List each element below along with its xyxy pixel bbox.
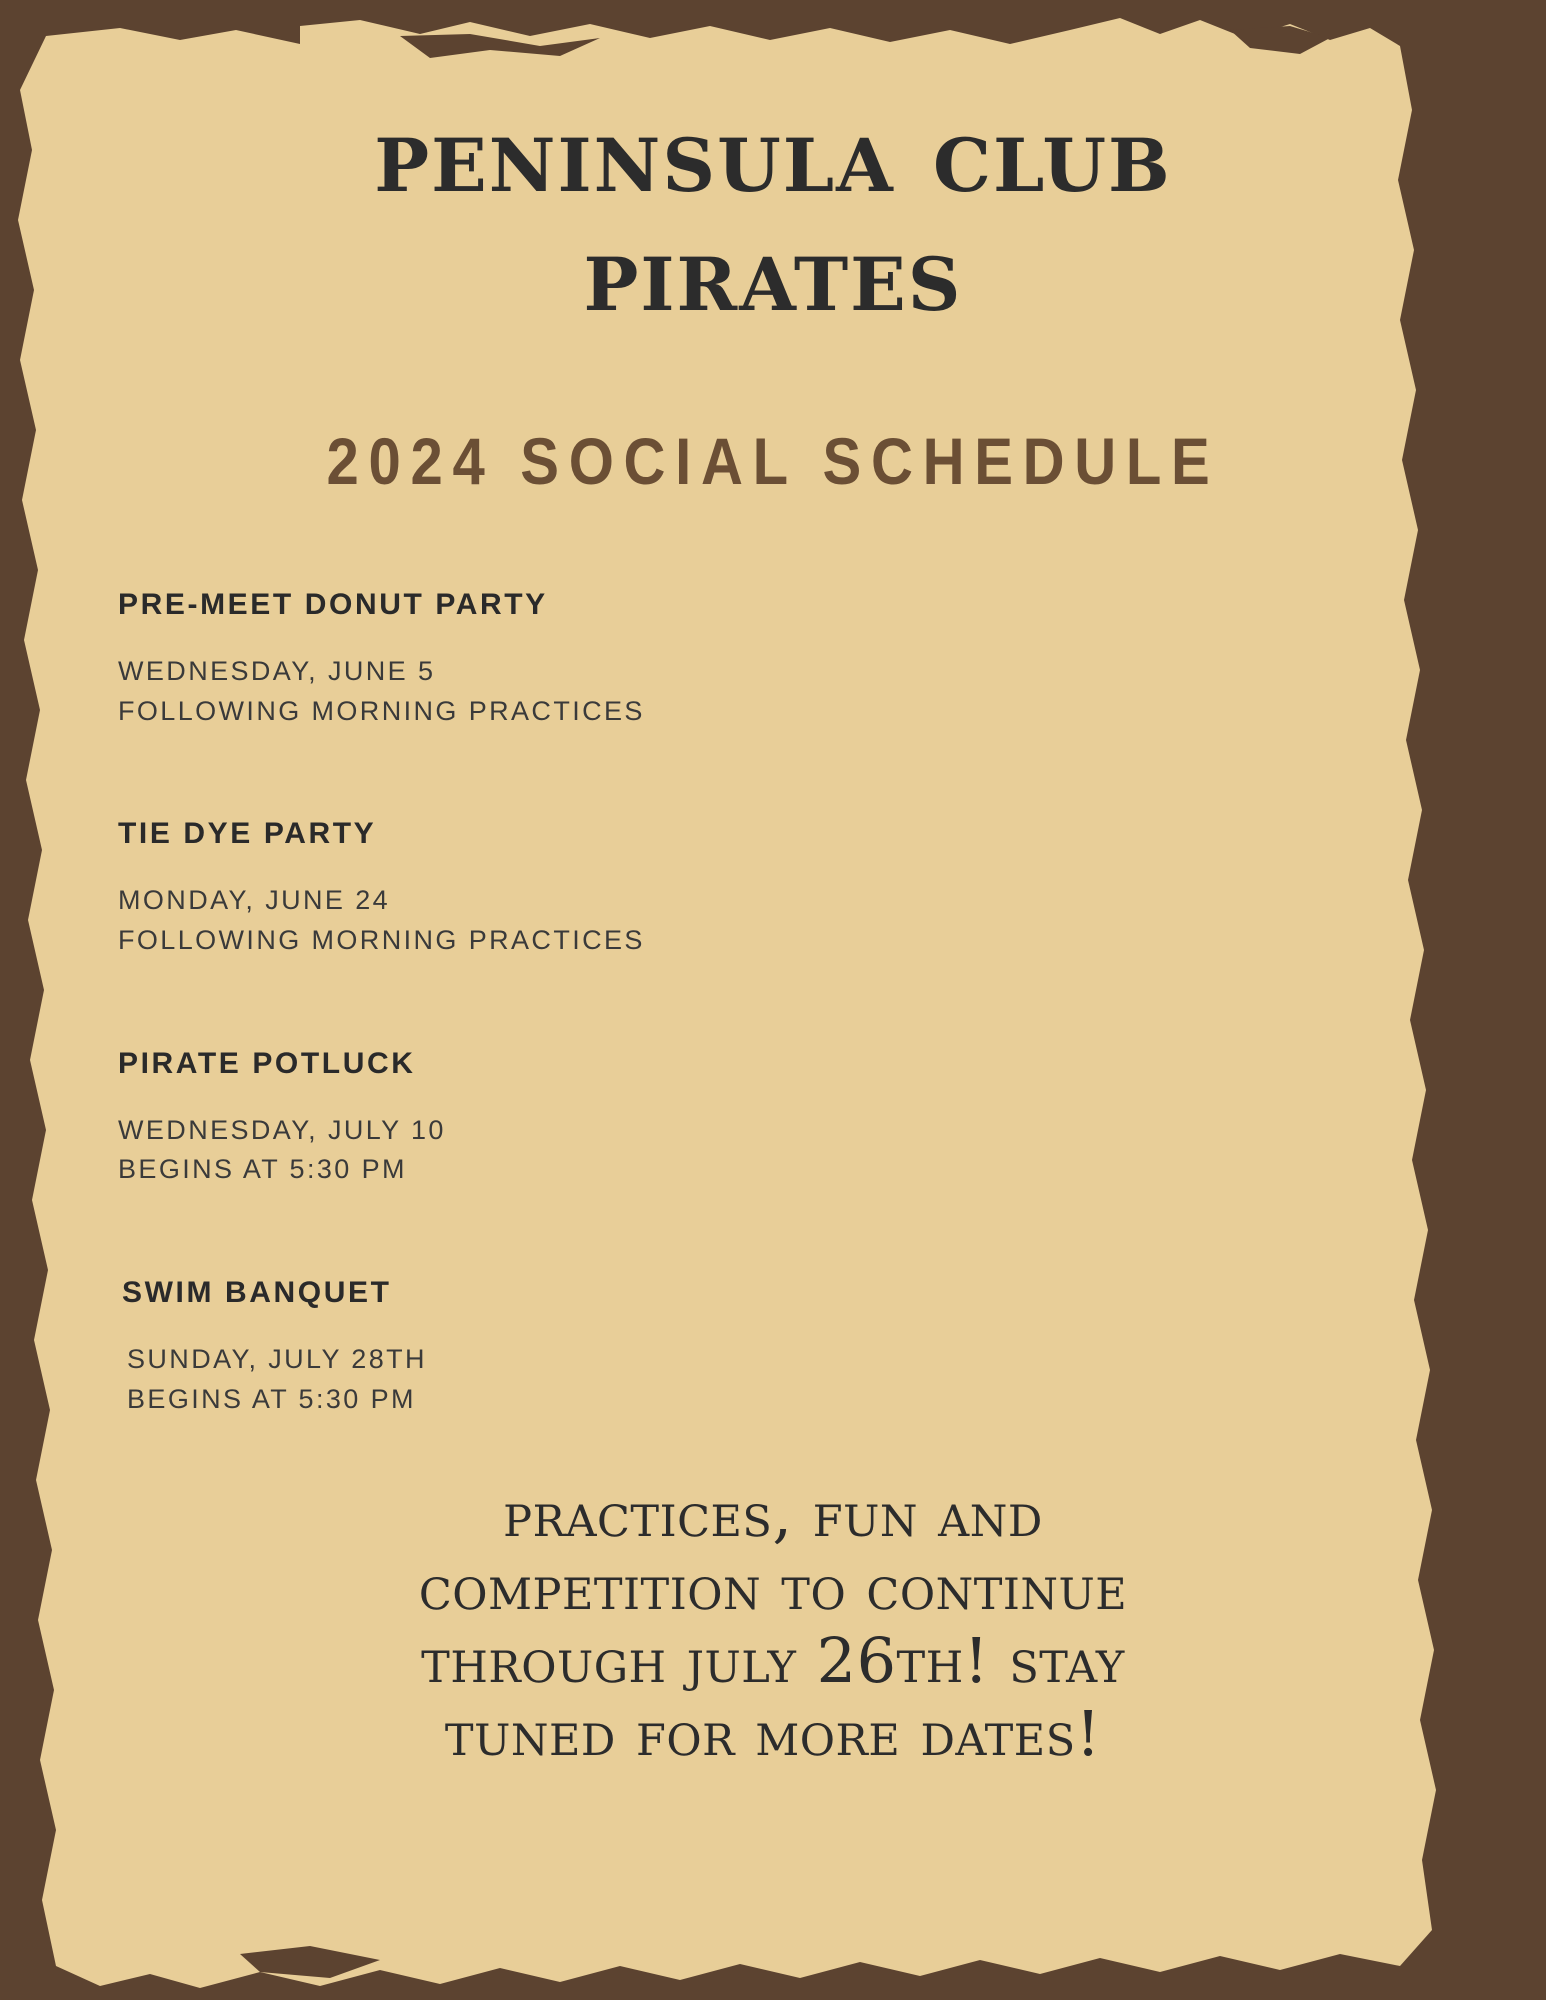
event-time: FOLLOWING MORNING PRACTICES: [118, 692, 1018, 732]
event-name: TIE DYE PARTY: [118, 817, 1018, 851]
title-line-2: Pirates: [0, 215, 1546, 334]
event-date: MONDAY, JUNE 24: [118, 881, 1018, 921]
events-list: PRE-MEET DONUT PARTY WEDNESDAY, JUNE 5 F…: [118, 588, 1018, 1420]
event-name: PRE-MEET DONUT PARTY: [118, 588, 1018, 622]
title-line-1: Peninsula Club: [0, 96, 1546, 215]
poster-content: Peninsula Club Pirates 2024 SOCIAL SCHED…: [0, 0, 1546, 2000]
footer-line-1: Practices, fun and: [173, 1478, 1373, 1551]
event-item: PRE-MEET DONUT PARTY WEDNESDAY, JUNE 5 F…: [118, 588, 1018, 731]
event-name: PIRATE POTLUCK: [118, 1047, 1018, 1081]
event-time: BEGINS AT 5:30 PM: [118, 1380, 1018, 1420]
poster-subtitle: 2024 SOCIAL SCHEDULE: [93, 423, 1453, 499]
poster-title: Peninsula Club Pirates: [0, 96, 1546, 333]
footer-line-2: competition to continue: [173, 1551, 1373, 1624]
event-item: SWIM BANQUET SUNDAY, JULY 28TH BEGINS AT…: [118, 1276, 1018, 1419]
event-date: WEDNESDAY, JULY 10: [118, 1111, 1018, 1151]
event-item: TIE DYE PARTY MONDAY, JUNE 24 FOLLOWING …: [118, 817, 1018, 960]
event-time: FOLLOWING MORNING PRACTICES: [118, 921, 1018, 961]
footer-line-4: tuned for more dates!: [173, 1697, 1373, 1770]
event-item: PIRATE POTLUCK WEDNESDAY, JULY 10 BEGINS…: [118, 1047, 1018, 1190]
event-date: SUNDAY, JULY 28TH: [118, 1340, 1018, 1380]
event-name: SWIM BANQUET: [118, 1276, 1018, 1310]
event-time: BEGINS AT 5:30 PM: [118, 1150, 1018, 1190]
footer-line-3: through July 26th! Stay: [173, 1624, 1373, 1697]
footer-note: Practices, fun and competition to contin…: [173, 1478, 1373, 1771]
poster-canvas: Peninsula Club Pirates 2024 SOCIAL SCHED…: [0, 0, 1546, 2000]
event-date: WEDNESDAY, JUNE 5: [118, 652, 1018, 692]
